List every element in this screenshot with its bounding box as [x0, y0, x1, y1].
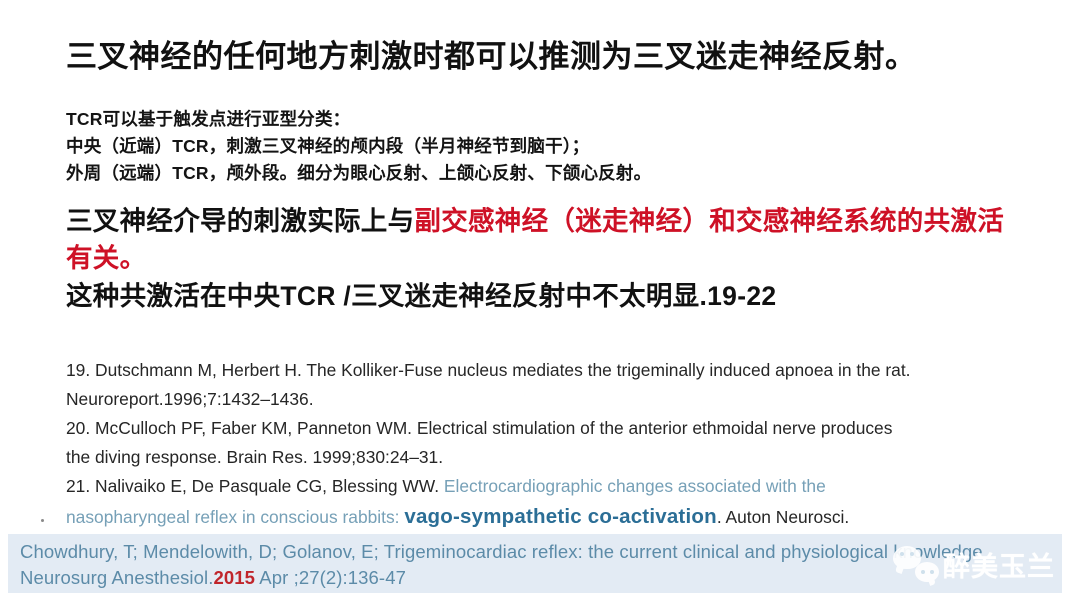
emphasis-line-3: 这种共激活在中央TCR /三叉迷走神经反射中不太明显.19-22: [66, 278, 1024, 315]
citation-issue: Apr ;27(2):136-47: [255, 567, 406, 588]
reference-19-line-2: Neuroreport.1996;7:1432–1436.: [66, 385, 1028, 414]
reference-21-line-1: 21. Nalivaiko E, De Pasquale CG, Blessin…: [66, 472, 1028, 501]
reference-21-title-part-2: nasopharyngeal reflex in conscious rabbi…: [66, 507, 400, 527]
reference-21-title-part-1: Electrocardiographic changes associated …: [439, 476, 826, 496]
stray-dot-artifact: [41, 519, 44, 522]
tcr-subtype-block: TCR可以基于触发点进行亚型分类： 中央（近端）TCR，刺激三叉神经的颅内段（半…: [66, 106, 926, 187]
reference-20-line-1: 20. McCulloch PF, Faber KM, Panneton WM.…: [66, 414, 1028, 443]
emphasis-black-lead: 三叉神经介导的刺激实际上与: [66, 206, 414, 236]
reference-21-journal: . Auton Neurosci.: [717, 507, 849, 527]
emphasis-block: 三叉神经介导的刺激实际上与副交感神经（迷走神经）和交感神经系统的共激活有关。 这…: [66, 203, 1024, 315]
tcr-subtype-line-2: 中央（近端）TCR，刺激三叉神经的颅内段（半月神经节到脑干）；: [66, 133, 926, 160]
citation-year: 2015: [213, 567, 255, 588]
slide-canvas: 三叉神经的任何地方刺激时都可以推测为三叉迷走神经反射。 TCR可以基于触发点进行…: [0, 0, 1080, 608]
reference-20-line-2: the diving response. Brain Res. 1999;830…: [66, 443, 1028, 472]
citation-line-1: Chowdhury, T; Mendelowith, D; Golanov, E…: [20, 539, 1050, 565]
citation-journal: Neurosurg Anesthesiol.: [20, 567, 213, 588]
reference-21-highlight: vago-sympathetic co-activation: [404, 505, 716, 528]
reference-list: 19. Dutschmann M, Herbert H. The Kollike…: [66, 356, 1028, 563]
tcr-subtype-line-1: TCR可以基于触发点进行亚型分类：: [66, 106, 926, 133]
tcr-subtype-line-3: 外周（远端）TCR，颅外段。细分为眼心反射、上颌心反射、下颌心反射。: [66, 160, 926, 187]
citation-line-2: Neurosurg Anesthesiol.2015 Apr ;27(2):13…: [20, 565, 1050, 591]
reference-19-line-1: 19. Dutschmann M, Herbert H. The Kollike…: [66, 356, 1028, 385]
reference-21-line-2: nasopharyngeal reflex in conscious rabbi…: [66, 500, 1028, 534]
citation-banner-text: Chowdhury, T; Mendelowith, D; Golanov, E…: [20, 539, 1050, 592]
citation-banner: Chowdhury, T; Mendelowith, D; Golanov, E…: [8, 534, 1062, 593]
reference-21-authors: 21. Nalivaiko E, De Pasquale CG, Blessin…: [66, 476, 439, 496]
page-title: 三叉神经的任何地方刺激时都可以推测为三叉迷走神经反射。: [66, 38, 1026, 77]
